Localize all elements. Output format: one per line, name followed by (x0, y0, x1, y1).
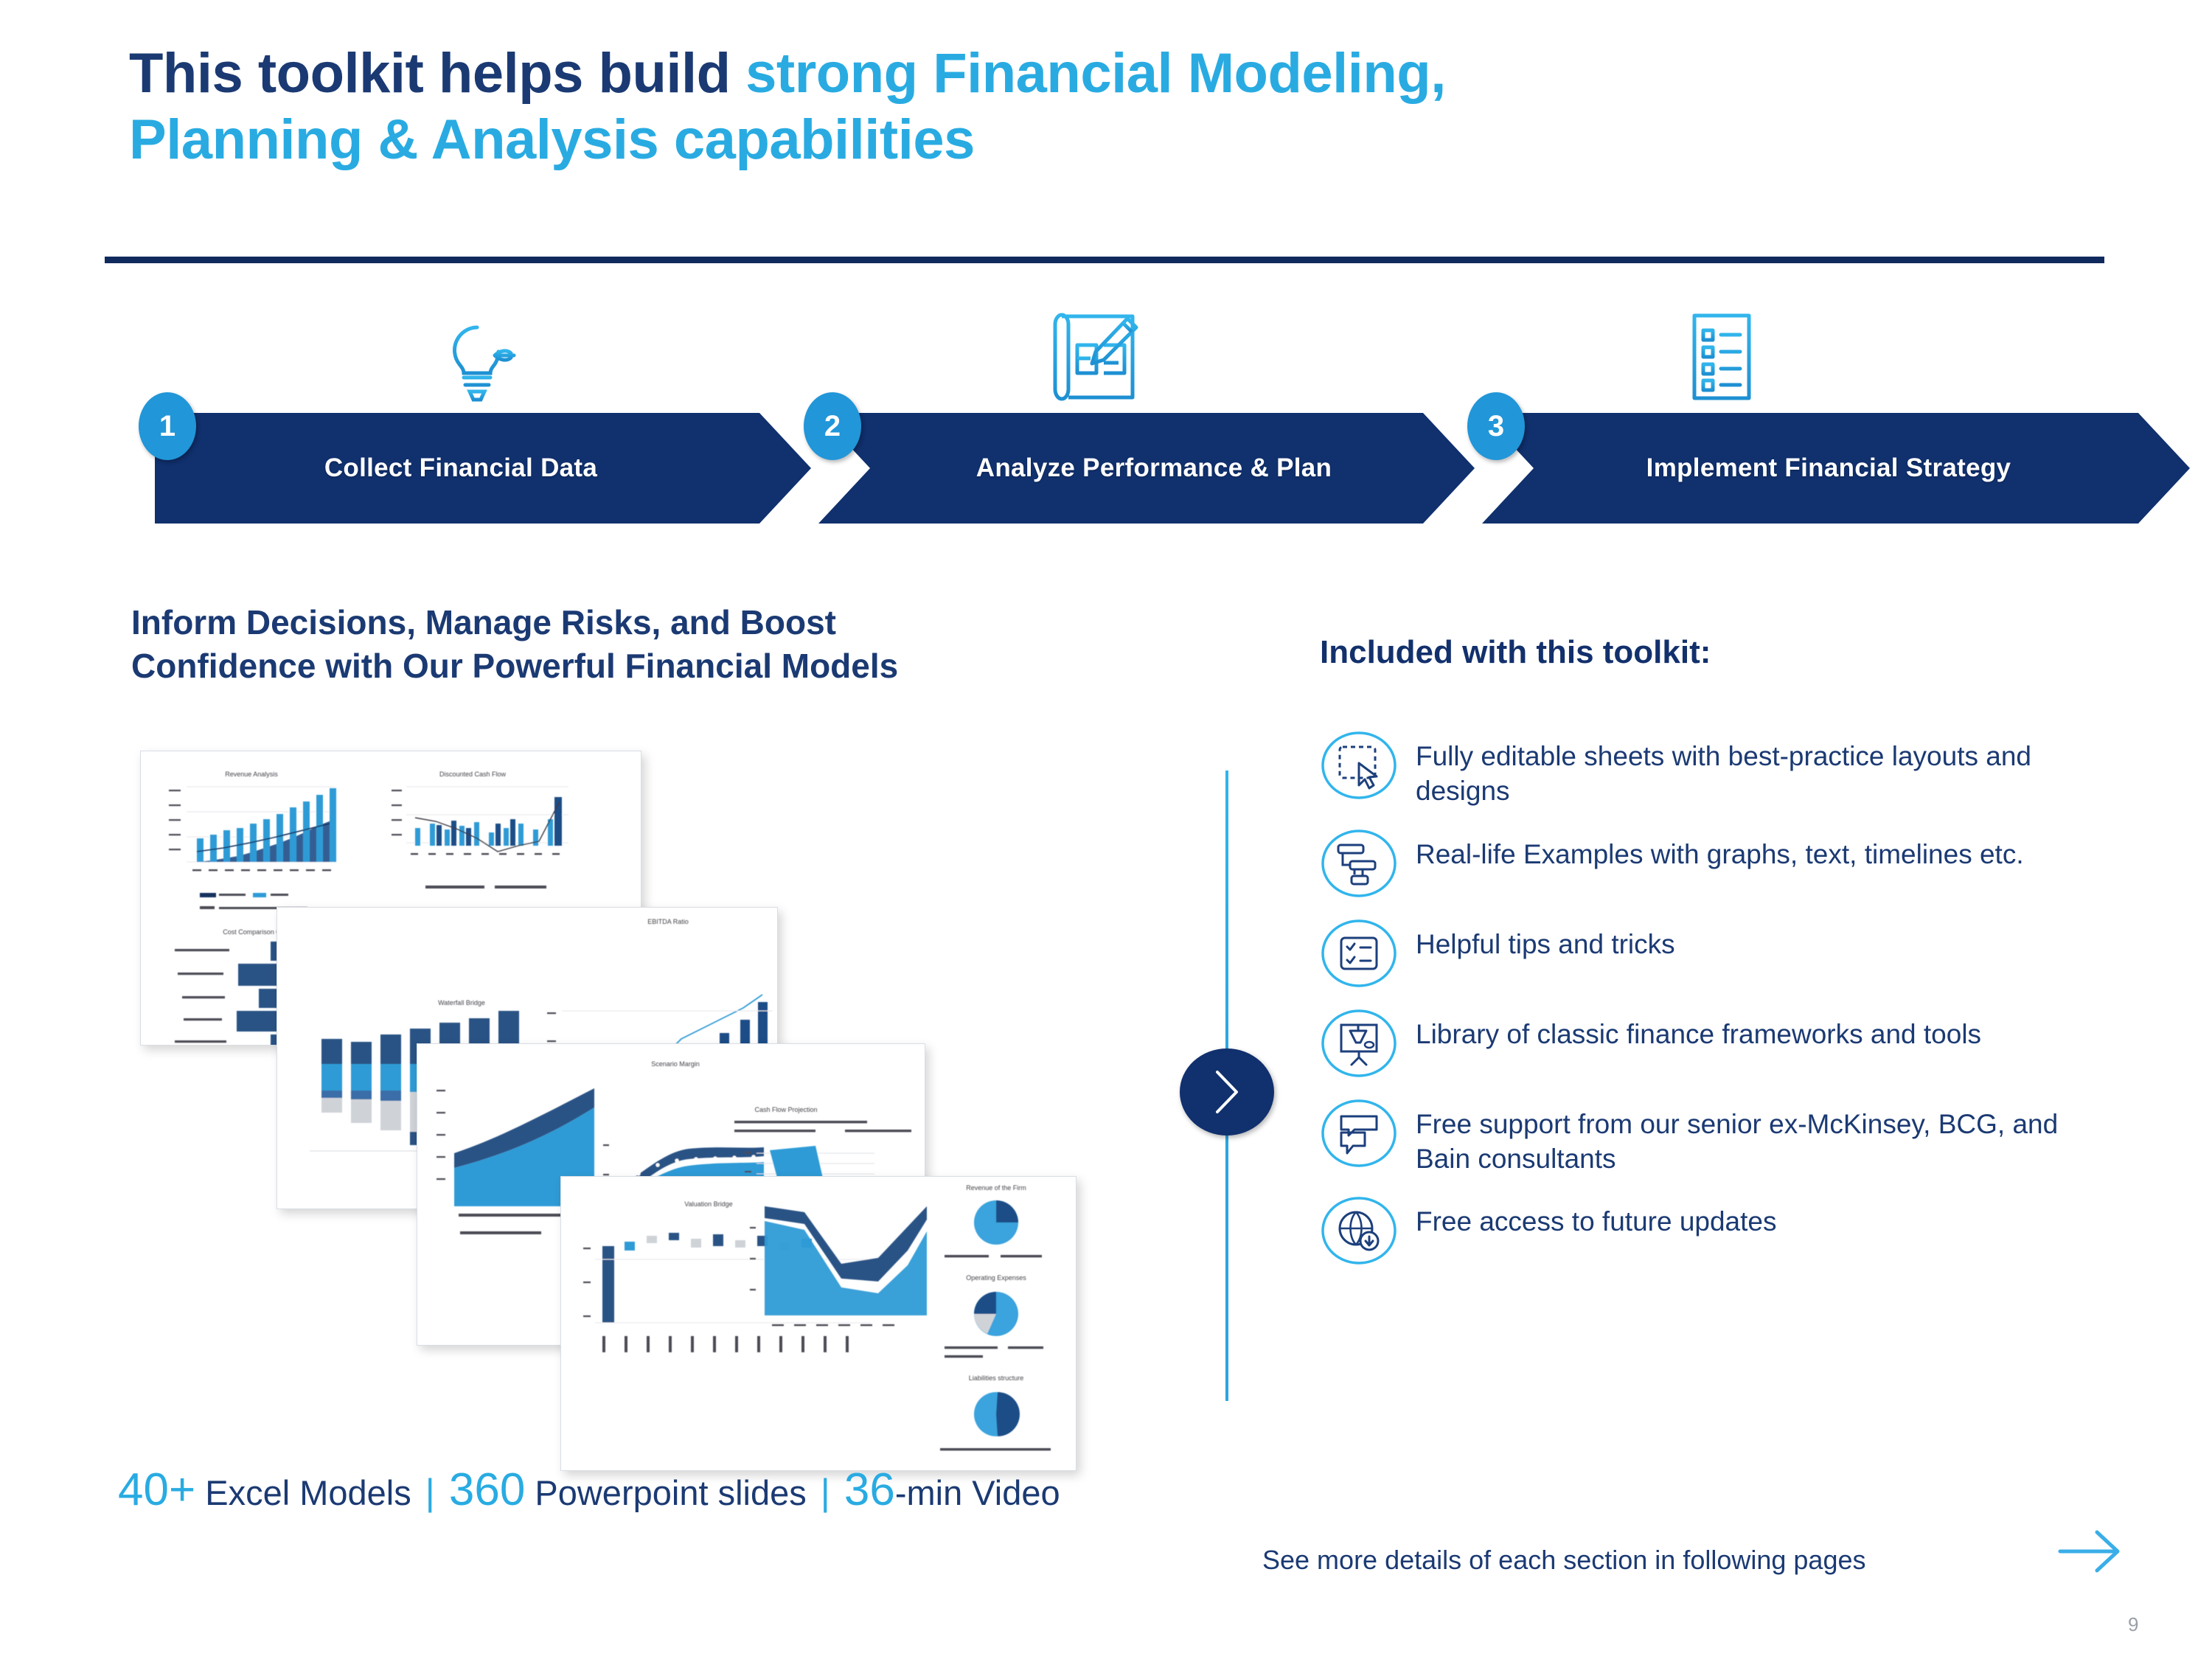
svg-text:Valuation Bridge: Valuation Bridge (684, 1200, 732, 1208)
divider-chevron-node (1180, 1048, 1274, 1135)
process-step-3-badge: 3 (1467, 392, 1525, 460)
page-title: This toolkit helps build strong Financia… (129, 41, 2120, 173)
left-heading-line-1: Inform Decisions, Manage Risks, and Boos… (131, 601, 1200, 644)
svg-text:Cash Flow Projection: Cash Flow Projection (754, 1106, 817, 1113)
included-feature-list: Fully editable sheets with best-practice… (1320, 730, 2116, 1285)
title-divider-rule (105, 257, 2104, 263)
list-item-label: Helpful tips and tricks (1416, 918, 1675, 961)
list-item-label: Free support from our senior ex-McKinsey… (1416, 1098, 2116, 1177)
video-count: 36 (844, 1464, 895, 1515)
included-heading: Included with this toolkit: (1320, 634, 1711, 671)
list-item-label: Library of classic finance frameworks an… (1416, 1008, 1981, 1051)
process-step-1-badge: 1 (139, 392, 196, 460)
process-step-2-label: Analyze Performance & Plan (976, 453, 1332, 483)
slide-thumbnail-4[interactable]: Valuation Bridge (560, 1176, 1077, 1471)
list-item[interactable]: Library of classic finance frameworks an… (1320, 1008, 2116, 1079)
flowchart-icon (1320, 828, 1398, 899)
list-item[interactable]: Free access to future updates (1320, 1195, 2116, 1266)
footer-note: See more details of each section in foll… (1262, 1545, 1866, 1576)
title-line-1: This toolkit helps build strong Financia… (129, 41, 2120, 107)
process-step-2[interactable]: Analyze Performance & Plan (818, 413, 1475, 524)
svg-text:Discounted Cash Flow: Discounted Cash Flow (439, 771, 507, 778)
process-chevron-bar: Collect Financial Data Analyze Performan… (155, 413, 2042, 524)
left-section-heading: Inform Decisions, Manage Risks, and Boos… (131, 601, 1200, 688)
toolkit-counts: 40+ Excel Models | 360 Powerpoint slides… (118, 1464, 1060, 1516)
slides-count: 360 (449, 1464, 525, 1515)
svg-text:Revenue of the Firm: Revenue of the Firm (966, 1184, 1026, 1192)
process-step-1-label: Collect Financial Data (324, 453, 597, 483)
dashed-box-cursor-icon (1320, 730, 1398, 801)
arrow-right-icon[interactable] (2057, 1528, 2124, 1579)
svg-text:Scenario Margin: Scenario Margin (651, 1060, 700, 1068)
checklist-document-icon (1683, 310, 1764, 408)
svg-text:Liabilities structure: Liabilities structure (969, 1374, 1024, 1382)
excel-count: 40+ (118, 1464, 195, 1515)
globe-download-icon (1320, 1195, 1398, 1266)
page-number: 9 (2128, 1613, 2138, 1636)
left-heading-line-2: Confidence with Our Powerful Financial M… (131, 644, 1200, 688)
slide-thumbnail-stack: Revenue Analysis (133, 737, 1091, 1445)
lightbulb-icon (431, 317, 518, 409)
counts-separator-2: | (816, 1472, 835, 1513)
process-step-3-label: Implement Financial Strategy (1646, 453, 2011, 483)
svg-text:Operating Expenses: Operating Expenses (966, 1274, 1026, 1281)
list-item[interactable]: Free support from our senior ex-McKinsey… (1320, 1098, 2116, 1177)
list-item-label: Real-life Examples with graphs, text, ti… (1416, 828, 2024, 872)
list-item[interactable]: Fully editable sheets with best-practice… (1320, 730, 2116, 809)
checklist-card-icon (1320, 918, 1398, 989)
excel-label: Excel Models (205, 1473, 411, 1512)
title-plain-text: This toolkit helps build (129, 42, 745, 105)
list-item-label: Free access to future updates (1416, 1195, 1777, 1239)
title-line-2: Planning & Analysis capabilities (129, 107, 2120, 173)
presentation-board-icon (1320, 1008, 1398, 1079)
list-item[interactable]: Helpful tips and tricks (1320, 918, 2116, 989)
process-step-3[interactable]: Implement Financial Strategy (1482, 413, 2190, 524)
title-accent-text-1: strong Financial Modeling, (745, 42, 1446, 105)
video-label: -min Video (895, 1473, 1060, 1512)
process-step-2-badge: 2 (804, 392, 861, 460)
svg-text:EBITDA Ratio: EBITDA Ratio (647, 918, 689, 925)
chevron-right-icon (1208, 1068, 1245, 1116)
list-item-label: Fully editable sheets with best-practice… (1416, 730, 2116, 809)
list-item[interactable]: Real-life Examples with graphs, text, ti… (1320, 828, 2116, 899)
blueprint-pencil-icon (1051, 310, 1148, 408)
svg-text:Waterfall Bridge: Waterfall Bridge (438, 999, 485, 1006)
counts-separator-1: | (421, 1472, 439, 1513)
chat-bubbles-icon (1320, 1098, 1398, 1169)
process-step-1[interactable]: Collect Financial Data (155, 413, 811, 524)
slides-label: Powerpoint slides (535, 1473, 806, 1512)
svg-text:Revenue Analysis: Revenue Analysis (225, 771, 278, 778)
